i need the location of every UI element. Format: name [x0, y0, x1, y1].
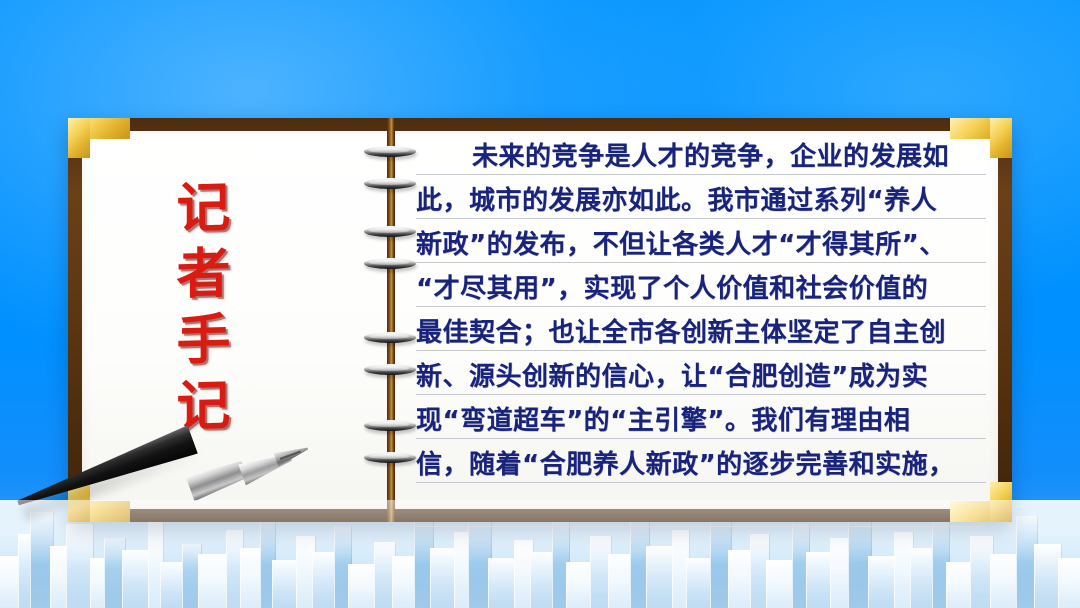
text-line: 此，城市的发展亦如此。我市通过系列“养人 [416, 175, 986, 219]
text-line-content: 此，城市的发展亦如此。我市通过系列“养人 [416, 188, 986, 214]
corner-ornament-top-right [950, 118, 1012, 158]
city-skyline [0, 500, 1080, 608]
binding-ring [364, 330, 416, 345]
text-line-content: 信，随着“合肥养人新政”的逐步完善和实施， [416, 452, 986, 478]
notebook-frame: 记者手记 未来的竞争是人才的竞争，企业的发展如 此，城市的发展亦如此。我市通过系… [68, 118, 1012, 522]
binding-ring [364, 450, 416, 465]
text-line-content: 现“弯道超车”的“主引擎”。我们有理由相 [416, 408, 986, 434]
text-line: 新、源头创新的信心，让“合肥创造”成为实 [416, 351, 986, 395]
text-line-content: 新政”的发布，不但让各类人才“才得其所”、 [416, 232, 986, 258]
text-line: “才尽其用”，实现了个人价值和社会价值的 [416, 263, 986, 307]
title-panel: 记者手记 [82, 131, 358, 509]
spiral-binding [368, 118, 412, 522]
text-line: 最佳契合；也让全市各创新主体坚定了自主创 [416, 307, 986, 351]
text-line-content: 未来的竞争是人才的竞争，企业的发展如 [416, 144, 986, 170]
binding-ring [364, 256, 416, 271]
text-line-content: 新、源头创新的信心，让“合肥创造”成为实 [416, 364, 986, 390]
text-line: 新政”的发布，不但让各类人才“才得其所”、 [416, 219, 986, 263]
binding-ring [364, 418, 416, 433]
page-title: 记者手记 [160, 178, 239, 444]
text-line: 未来的竞争是人才的竞争，企业的发展如 [416, 131, 986, 175]
binding-ring [364, 144, 416, 159]
text-line-content: “才尽其用”，实现了个人价值和社会价值的 [416, 276, 986, 302]
corner-ornament-top-left [68, 118, 130, 158]
article-body: 未来的竞争是人才的竞争，企业的发展如 此，城市的发展亦如此。我市通过系列“养人 … [412, 131, 998, 509]
text-line: 现“弯道超车”的“主引擎”。我们有理由相 [416, 395, 986, 439]
text-line-content: 最佳契合；也让全市各创新主体坚定了自主创 [416, 320, 986, 346]
binding-ring [364, 362, 416, 377]
binding-ring [364, 224, 416, 239]
binding-ring [364, 176, 416, 191]
text-line: 信，随着“合肥养人新政”的逐步完善和实施， [416, 439, 986, 483]
